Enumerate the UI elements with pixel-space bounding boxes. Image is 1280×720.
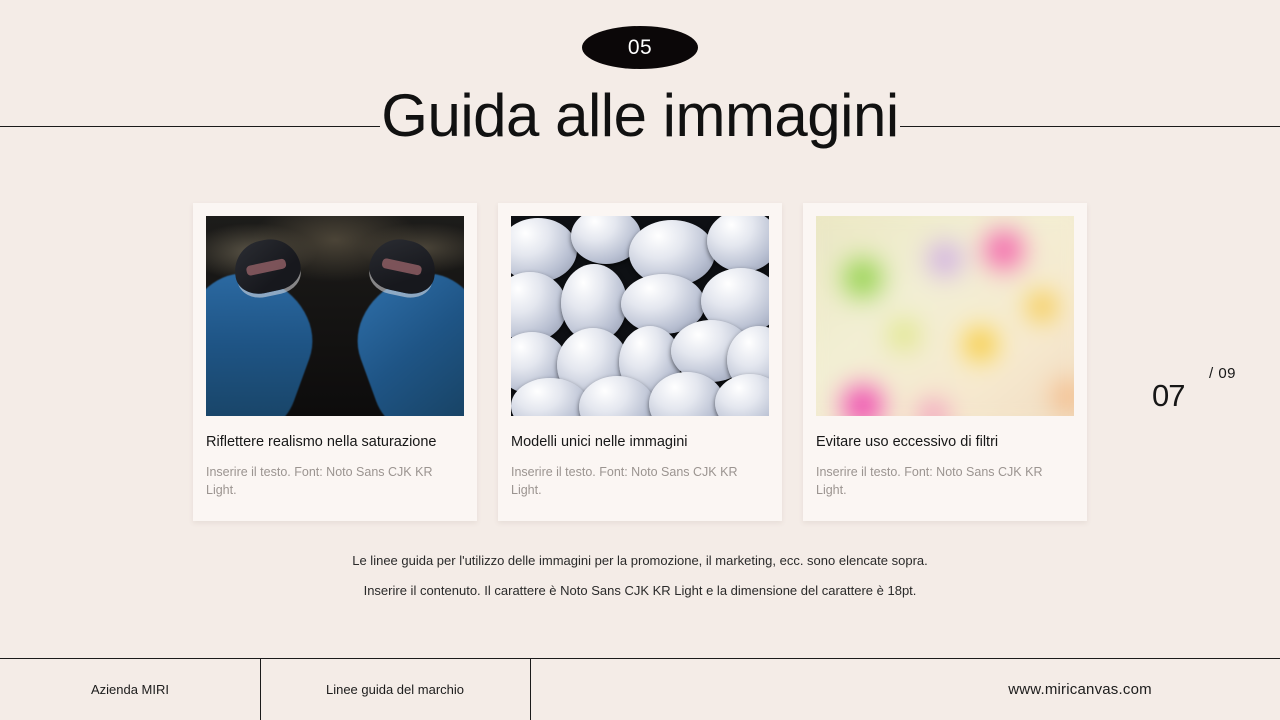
photo-feet-jeans-sneakers-icon — [206, 216, 464, 416]
note-line-2: Inserire il contenuto. Il carattere è No… — [0, 584, 1280, 597]
card-body: Inserire il testo. Font: Noto Sans CJK K… — [816, 463, 1048, 517]
guideline-card[interactable]: Riflettere realismo nella saturazione In… — [193, 203, 477, 521]
card-title: Evitare uso eccessivo di filtri — [816, 433, 1074, 451]
guideline-card[interactable]: Evitare uso eccessivo di filtri Inserire… — [803, 203, 1087, 521]
photo-blurred-flowers-icon — [816, 216, 1074, 416]
footer-section: Linee guida del marchio — [260, 658, 530, 720]
page-total: / 09 — [1209, 365, 1236, 382]
guideline-card-list: Riflettere realismo nella saturazione In… — [193, 203, 1087, 521]
guideline-note: Le linee guida per l'utilizzo delle imma… — [0, 554, 1280, 597]
slide-canvas: 05 Guida alle immagini Riflettere realis… — [0, 0, 1280, 720]
card-body: Inserire il testo. Font: Noto Sans CJK K… — [206, 463, 438, 517]
section-number-badge: 05 — [582, 26, 698, 69]
guideline-card[interactable]: Modelli unici nelle immagini Inserire il… — [498, 203, 782, 521]
footer-url[interactable]: www.miricanvas.com — [930, 658, 1230, 720]
footer-company: Azienda MIRI — [0, 658, 260, 720]
footer-divider-2 — [530, 658, 531, 720]
section-number-label: 05 — [628, 36, 652, 60]
card-title: Modelli unici nelle immagini — [511, 433, 769, 451]
page-title: Guida alle immagini — [0, 86, 1280, 146]
card-title: Riflettere realismo nella saturazione — [206, 433, 464, 451]
card-body: Inserire il testo. Font: Noto Sans CJK K… — [511, 463, 743, 517]
photo-white-pebbles-icon — [511, 216, 769, 416]
note-line-1: Le linee guida per l'utilizzo delle imma… — [352, 553, 928, 568]
page-current: 07 — [1152, 380, 1184, 411]
